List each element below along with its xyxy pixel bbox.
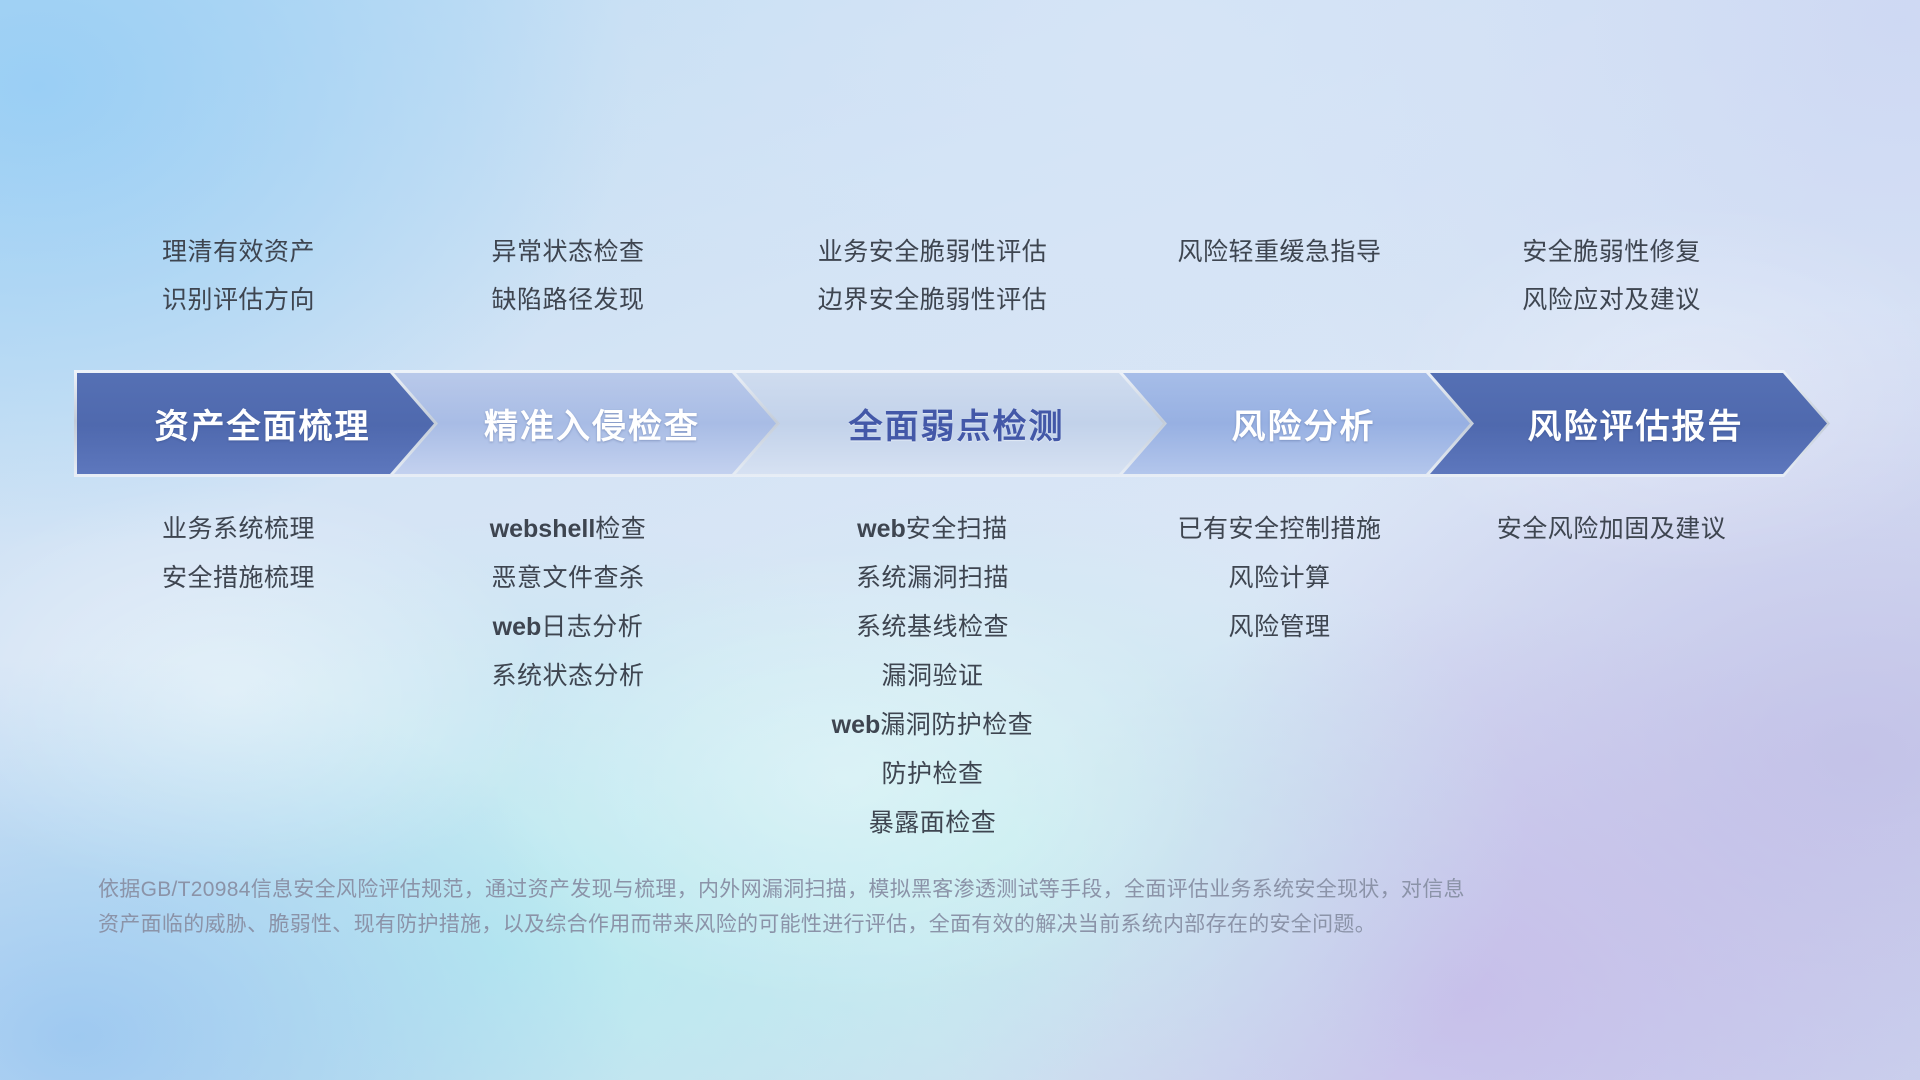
stage-asset-inventory[interactable]: 资产全面梳理 [74, 370, 437, 477]
top-labels-risk-report: 安全脆弱性修复风险应对及建议 [1439, 228, 1784, 324]
detail-item: 系统基线检查 [745, 603, 1120, 652]
detail-item: 系统漏洞扫描 [745, 554, 1120, 603]
detail-item-prefix: web [493, 613, 542, 641]
top-label: 业务安全脆弱性评估 [745, 228, 1120, 276]
stage-risk-analysis[interactable]: 风险分析 [1120, 370, 1473, 477]
top-label: 缺陷路径发现 [403, 276, 733, 324]
stage-label: 资产全面梳理 [155, 399, 371, 448]
top-label: 识别评估方向 [86, 276, 391, 324]
detail-item: 已有安全控制措施 [1132, 505, 1427, 554]
top-labels-weakness-detection: 业务安全脆弱性评估边界安全脆弱性评估 [745, 228, 1120, 324]
stage-chevron-banner: 资产全面梳理精准入侵检查全面弱点检测风险分析风险评估报告 [74, 370, 1842, 477]
top-label: 风险应对及建议 [1439, 276, 1784, 324]
process-diagram: 理清有效资产识别评估方向异常状态检查缺陷路径发现业务安全脆弱性评估边界安全脆弱性… [0, 0, 1920, 1080]
bottom-detail-row: 业务系统梳理安全措施梳理webshell检查恶意文件查杀web日志分析系统状态分… [86, 505, 1834, 848]
detail-item: 风险管理 [1132, 603, 1427, 652]
detail-list-risk-report: 安全风险加固及建议 [1439, 505, 1784, 554]
top-labels-asset-inventory: 理清有效资产识别评估方向 [86, 228, 391, 324]
detail-item-text: 检查 [595, 515, 646, 543]
detail-item: webshell检查 [403, 505, 733, 554]
top-label: 风险轻重缓急指导 [1132, 228, 1427, 276]
detail-item: 风险计算 [1132, 554, 1427, 603]
stage-label: 全面弱点检测 [849, 399, 1065, 448]
detail-item: 暴露面检查 [745, 799, 1120, 848]
stage-label: 精准入侵检查 [484, 399, 700, 448]
detail-list-weakness-detection: web安全扫描系统漏洞扫描系统基线检查漏洞验证web漏洞防护检查防护检查暴露面检… [745, 505, 1120, 848]
detail-list-intrusion-check: webshell检查恶意文件查杀web日志分析系统状态分析 [403, 505, 733, 701]
detail-item-text: 漏洞防护检查 [880, 711, 1033, 739]
stage-label: 风险评估报告 [1528, 399, 1744, 448]
stage-label: 风险分析 [1232, 399, 1376, 448]
top-label-row: 理清有效资产识别评估方向异常状态检查缺陷路径发现业务安全脆弱性评估边界安全脆弱性… [86, 228, 1834, 324]
detail-item: 业务系统梳理 [86, 505, 391, 554]
top-label: 理清有效资产 [86, 228, 391, 276]
detail-item-prefix: web [832, 711, 881, 739]
stage-risk-report[interactable]: 风险评估报告 [1427, 370, 1830, 477]
detail-list-risk-analysis: 已有安全控制措施风险计算风险管理 [1132, 505, 1427, 652]
detail-item: 防护检查 [745, 750, 1120, 799]
detail-item: web安全扫描 [745, 505, 1120, 554]
detail-item: 安全风险加固及建议 [1439, 505, 1784, 554]
detail-list-asset-inventory: 业务系统梳理安全措施梳理 [86, 505, 391, 603]
top-labels-intrusion-check: 异常状态检查缺陷路径发现 [403, 228, 733, 324]
top-label: 安全脆弱性修复 [1439, 228, 1784, 276]
detail-item: 漏洞验证 [745, 652, 1120, 701]
footer-description: 依据GB/T20984信息安全风险评估规范，通过资产发现与梳理，内外网漏洞扫描，… [98, 872, 1618, 942]
detail-item: 安全措施梳理 [86, 554, 391, 603]
stage-weakness-detection[interactable]: 全面弱点检测 [733, 370, 1166, 477]
detail-item-prefix: web [857, 515, 906, 543]
footer-line-1: 依据GB/T20984信息安全风险评估规范，通过资产发现与梳理，内外网漏洞扫描，… [98, 872, 1618, 907]
footer-line-2: 资产面临的威胁、脆弱性、现有防护措施，以及综合作用而带来风险的可能性进行评估，全… [98, 907, 1618, 942]
detail-item: web漏洞防护检查 [745, 701, 1120, 750]
detail-item-text: 日志分析 [541, 613, 643, 641]
detail-item: 恶意文件查杀 [403, 554, 733, 603]
top-labels-risk-analysis: 风险轻重缓急指导 [1132, 228, 1427, 276]
detail-item: 系统状态分析 [403, 652, 733, 701]
stage-intrusion-check[interactable]: 精准入侵检查 [391, 370, 779, 477]
detail-item-prefix: webshell [490, 515, 596, 543]
top-label: 边界安全脆弱性评估 [745, 276, 1120, 324]
top-label: 异常状态检查 [403, 228, 733, 276]
detail-item: web日志分析 [403, 603, 733, 652]
detail-item-text: 安全扫描 [906, 515, 1008, 543]
